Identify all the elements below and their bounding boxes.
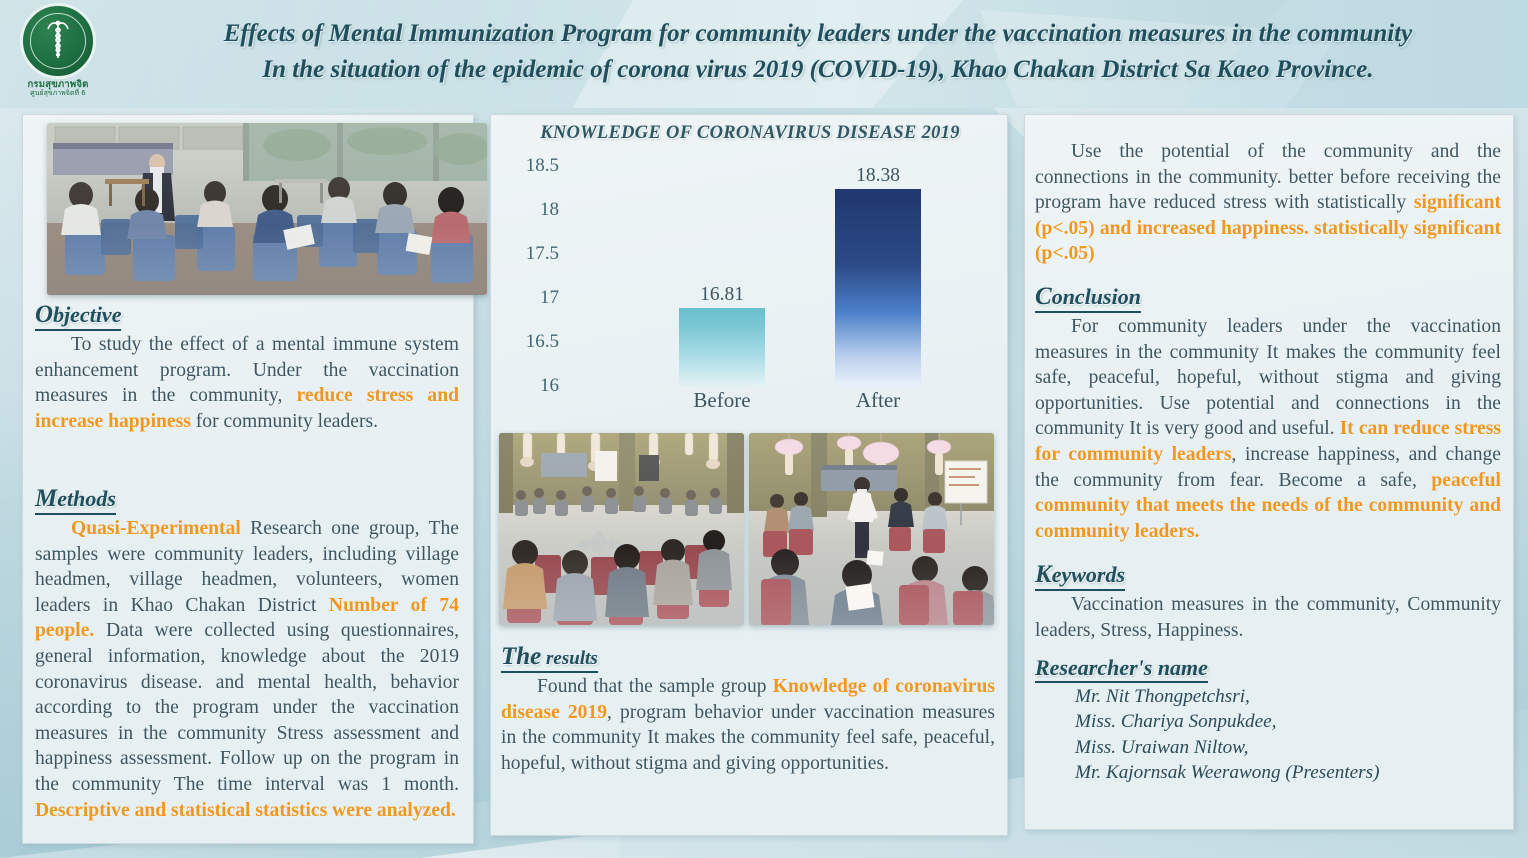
community-meeting-photo (47, 123, 487, 295)
temple-hall-facilitator-photo (749, 433, 994, 625)
organization-logo: กรมสุขภาพจิต ศูนย์สุขภาพจิตที่ 6 (6, 2, 110, 106)
middle-column-panel: KNOWLEDGE OF CORONAVIRUS DISEASE 2019 18… (490, 114, 1008, 836)
researcher-name: Miss. Uraiwan Niltow, (1035, 735, 1501, 760)
y-tick-label: 18.5 (499, 155, 559, 177)
bar-value-label: 18.38 (856, 165, 900, 187)
bar-category-label: After (856, 388, 900, 413)
methods-paragraph: Quasi-Experimental Research one group, T… (35, 516, 459, 823)
bar-after: 18.38 After (835, 189, 921, 386)
temple-hall-facilitator-graphic (749, 433, 994, 625)
title-line-2: In the situation of the epidemic of coro… (118, 52, 1518, 88)
chart-title: KNOWLEDGE OF CORONAVIRUS DISEASE 2019 (497, 123, 1003, 144)
keywords-heading: Keywords (1035, 561, 1125, 591)
results-heading: The results (501, 643, 598, 673)
chart-plot-area: 18.5 18 17.5 17 16.5 16 16.81 Before 18.… (497, 144, 1003, 412)
conclusion-heading: Conclusion (1035, 283, 1141, 313)
chart-bars: 16.81 Before 18.38 After (567, 166, 997, 424)
logo-thai-subtitle: ศูนย์สุขภาพจิตที่ 6 (30, 90, 86, 98)
temple-hall-audience-photo (499, 433, 744, 625)
y-tick-label: 16 (499, 375, 559, 397)
methods-heading: Methods (35, 485, 116, 515)
poster-title: Effects of Mental Immunization Program f… (118, 16, 1518, 88)
methods-highlight-design: Quasi-Experimental (71, 518, 241, 539)
conclusion-paragraph: For community leaders under the vaccinat… (1035, 314, 1501, 544)
y-tick-label: 18 (499, 199, 559, 221)
left-column-panel: Objective To study the effect of a menta… (22, 114, 474, 844)
title-line-1: Effects of Mental Immunization Program f… (118, 16, 1518, 52)
objective-paragraph: To study the effect of a mental immune s… (35, 332, 459, 434)
keywords-paragraph: Vaccination measures in the community, C… (1035, 592, 1501, 643)
results-paragraph: Found that the sample group Knowledge of… (501, 674, 995, 776)
caduceus-icon (41, 18, 75, 64)
summary-paragraph: Use the potential of the community and t… (1035, 139, 1501, 267)
knowledge-bar-chart: KNOWLEDGE OF CORONAVIRUS DISEASE 2019 18… (497, 119, 1003, 419)
researcher-name: Mr. Kajornsak Weerawong (Presenters) (1035, 760, 1501, 785)
y-tick-label: 16.5 (499, 331, 559, 353)
y-tick-label: 17.5 (499, 243, 559, 265)
right-column-panel: Use the potential of the community and t… (1024, 114, 1514, 830)
bar-rect-before (679, 308, 765, 386)
bar-category-label: Before (693, 388, 750, 413)
researcher-name: Miss. Chariya Sonpukdee, (1035, 709, 1501, 734)
bar-before: 16.81 Before (679, 308, 765, 386)
chart-y-axis: 18.5 18 17.5 17 16.5 16 (497, 166, 559, 386)
temple-hall-audience-graphic (499, 433, 744, 625)
y-tick-label: 17 (499, 287, 559, 309)
ministry-of-public-health-seal-icon (21, 4, 95, 78)
objective-heading: Objective (35, 301, 121, 331)
methods-highlight-analysis: Descriptive and statistical statistics w… (35, 800, 456, 821)
bar-value-label: 16.81 (700, 284, 744, 306)
researchers-heading: Researcher's name (1035, 655, 1208, 683)
community-meeting-photo-graphic (47, 123, 487, 295)
researcher-name: Mr. Nit Thongpetchsri, (1035, 684, 1501, 709)
bar-rect-after (835, 189, 921, 386)
poster-header: กรมสุขภาพจิต ศูนย์สุขภาพจิตที่ 6 Effects… (0, 0, 1528, 108)
